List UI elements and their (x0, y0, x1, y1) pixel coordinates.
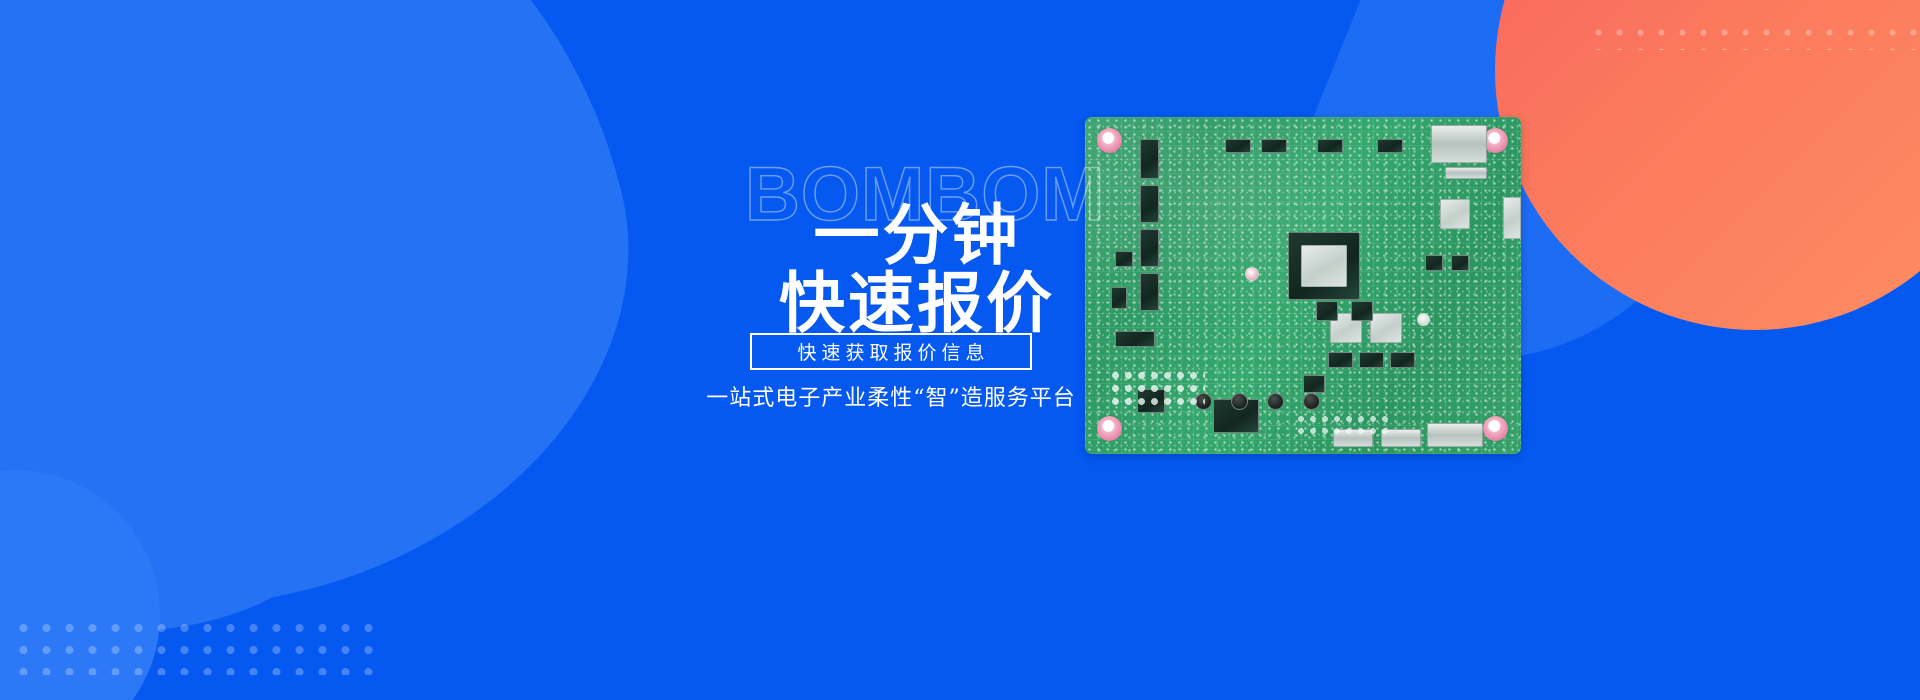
pcb-chip (1140, 273, 1159, 311)
pcb-chip (1115, 251, 1133, 267)
pcb-capacitor (1231, 393, 1248, 410)
pcb-capacitor (1267, 393, 1284, 410)
pcb-inductor (1440, 199, 1470, 229)
pcb-chip (1261, 139, 1287, 153)
pcb-mounting-hole (1483, 416, 1508, 441)
headline-line-2: 快速报价 (752, 270, 1082, 338)
pcb-chip (1317, 139, 1343, 153)
pcb-processor-die (1301, 245, 1347, 287)
pcb-component (1425, 255, 1443, 271)
pcb-inductor (1503, 197, 1521, 239)
get-quote-button-label: 快速获取报价信息 (792, 338, 989, 365)
get-quote-button[interactable]: 快速获取报价信息 (750, 333, 1032, 370)
pcb-capacitor (1417, 313, 1430, 326)
pcb-board-substrate (1085, 117, 1521, 454)
pcb-chip (1140, 229, 1159, 267)
pcb-component (1359, 352, 1384, 368)
pcb-chip (1377, 139, 1403, 153)
pcb-component (1328, 352, 1353, 368)
pcb-capacitor (1245, 267, 1259, 281)
dot-grid-bottomleft (8, 613, 383, 675)
pcb-mounting-hole (1097, 128, 1122, 153)
headline-line-1: 一分钟 (752, 202, 1082, 270)
pcb-component (1390, 352, 1415, 368)
pcb-chip (1140, 139, 1159, 179)
pcb-chip (1115, 331, 1155, 347)
page-title: 一分钟 快速报价 (752, 202, 1082, 338)
pcb-capacitor (1303, 393, 1320, 410)
pcb-connector-port (1445, 167, 1487, 179)
pcb-inductor (1370, 313, 1402, 343)
pcb-pad-array (1295, 413, 1391, 439)
pcb-chip (1111, 287, 1127, 309)
pcb-chip (1140, 185, 1159, 223)
pcb-component (1303, 375, 1325, 393)
pcb-component (1351, 301, 1373, 321)
pcb-circuit-board-image (1085, 117, 1521, 454)
pcb-pad-array (1109, 369, 1205, 411)
pcb-component (1451, 255, 1469, 271)
pcb-connector-port (1431, 125, 1487, 163)
tagline: 一站式电子产业柔性“智”造服务平台 (660, 380, 1122, 412)
pcb-component (1316, 301, 1338, 321)
dot-grid-topright (1585, 20, 1920, 50)
pcb-chip (1225, 139, 1251, 153)
pcb-mounting-hole (1097, 416, 1122, 441)
hero-banner: BOMBOM 一分钟 快速报价 快速获取报价信息 一站式电子产业柔性“智”造服务… (0, 0, 1920, 700)
pcb-connector-port (1427, 423, 1483, 447)
